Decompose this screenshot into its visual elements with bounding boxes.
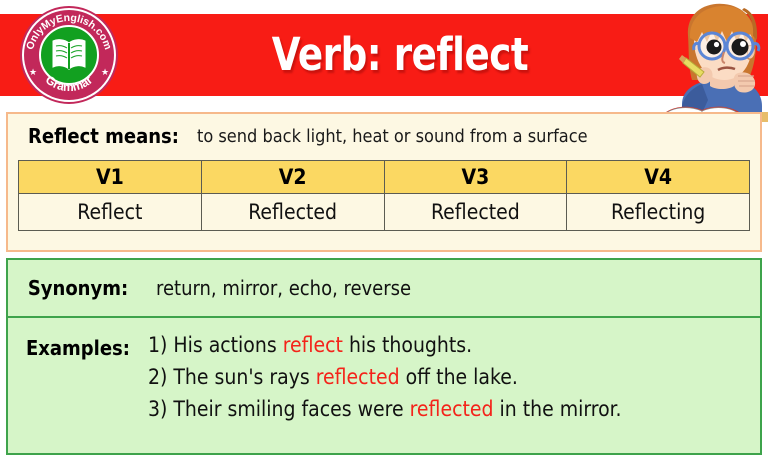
column-header-v1: V1 xyxy=(19,161,202,194)
example-number: 1) xyxy=(148,333,167,357)
verb-form-v2: Reflected xyxy=(201,194,384,231)
synonym-label: Synonym: xyxy=(8,276,148,300)
example-before: Their smiling faces were xyxy=(167,397,409,421)
example-number: 3) xyxy=(148,397,167,421)
open-book-icon xyxy=(48,34,90,76)
worksheet-page: Verb: reflect Only xyxy=(0,0,768,461)
header: Verb: reflect Only xyxy=(0,0,768,110)
table-header-row: V1 V2 V3 V4 xyxy=(19,161,750,194)
example-after: in the mirror. xyxy=(494,397,622,421)
example-after: his thoughts. xyxy=(343,333,472,357)
definition-text: to send back light, heat or sound from a… xyxy=(197,126,588,147)
definition-label: Reflect means: xyxy=(28,124,179,148)
example-number: 2) xyxy=(148,365,167,389)
table-row: Reflect Reflected Reflected Reflecting xyxy=(19,194,750,231)
verb-form-v1: Reflect xyxy=(19,194,202,231)
examples-label: Examples: xyxy=(8,318,148,360)
example-before: The sun's rays xyxy=(167,365,315,389)
example-before: His actions xyxy=(167,333,282,357)
column-header-v4: V4 xyxy=(567,161,750,194)
definition-box: Reflect means: to send back light, heat … xyxy=(6,112,762,252)
example-highlight: reflected xyxy=(410,397,494,421)
example-highlight: reflect xyxy=(283,333,343,357)
logo-star-left-icon: ★ xyxy=(29,68,37,77)
verb-form-v3: Reflected xyxy=(384,194,567,231)
synonym-examples-box: Synonym: return, mirror, echo, reverse E… xyxy=(6,258,762,455)
synonym-row: Synonym: return, mirror, echo, reverse xyxy=(8,260,760,318)
site-logo: OnlyMyEnglish.com Grammar ★ ★ xyxy=(20,6,118,104)
logo-star-right-icon: ★ xyxy=(101,68,109,77)
definition-row: Reflect means: to send back light, heat … xyxy=(8,114,760,158)
synonym-text: return, mirror, echo, reverse xyxy=(156,276,411,300)
column-header-v2: V2 xyxy=(201,161,384,194)
verb-form-v4: Reflecting xyxy=(567,194,750,231)
verb-forms-table: V1 V2 V3 V4 Reflect Reflected Reflected … xyxy=(18,160,750,231)
boy-studying-illustration xyxy=(658,0,768,122)
page-title: Verb: reflect xyxy=(170,14,630,96)
examples-row: Examples: 1) His actions reflect his tho… xyxy=(8,318,760,453)
column-header-v3: V3 xyxy=(384,161,567,194)
example-highlight: reflected xyxy=(316,365,400,389)
list-item: 1) His actions reflect his thoughts. xyxy=(148,330,760,362)
example-after: off the lake. xyxy=(400,365,518,389)
list-item: 2) The sun's rays reflected off the lake… xyxy=(148,362,760,394)
examples-list: 1) His actions reflect his thoughts. 2) … xyxy=(148,318,760,426)
list-item: 3) Their smiling faces were reflected in… xyxy=(148,394,760,426)
